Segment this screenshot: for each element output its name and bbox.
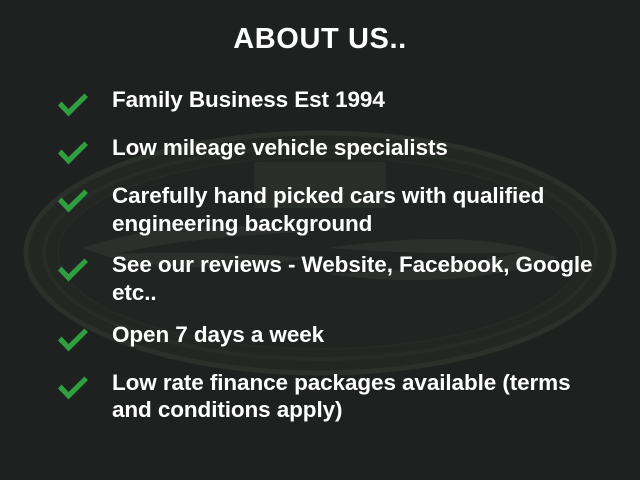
list-item-label: Family Business Est 1994 [112,86,385,114]
list-item-label: Carefully hand picked cars with qualifie… [112,182,612,237]
list-item-label: Open 7 days a week [112,321,324,349]
check-icon [56,92,90,118]
check-icon [56,140,90,166]
list-item-label: Low mileage vehicle specialists [112,134,448,162]
list-item: Family Business Est 1994 [0,86,640,120]
page-title: ABOUT US.. [0,24,640,56]
list-item: Low rate finance packages available (ter… [0,369,640,424]
about-us-panel: ABOUT US.. Family Business Est 1994 Low … [0,0,640,480]
list-item-label: Low rate finance packages available (ter… [112,369,612,424]
list-item: See our reviews - Website, Facebook, Goo… [0,251,640,306]
list-item: Low mileage vehicle specialists [0,134,640,168]
check-icon [56,375,90,401]
check-icon [56,257,90,283]
benefits-list: Family Business Est 1994 Low mileage veh… [0,86,640,438]
list-item: Carefully hand picked cars with qualifie… [0,182,640,237]
check-icon [56,188,90,214]
list-item-label: See our reviews - Website, Facebook, Goo… [112,251,612,306]
list-item: Open 7 days a week [0,321,640,355]
check-icon [56,327,90,353]
